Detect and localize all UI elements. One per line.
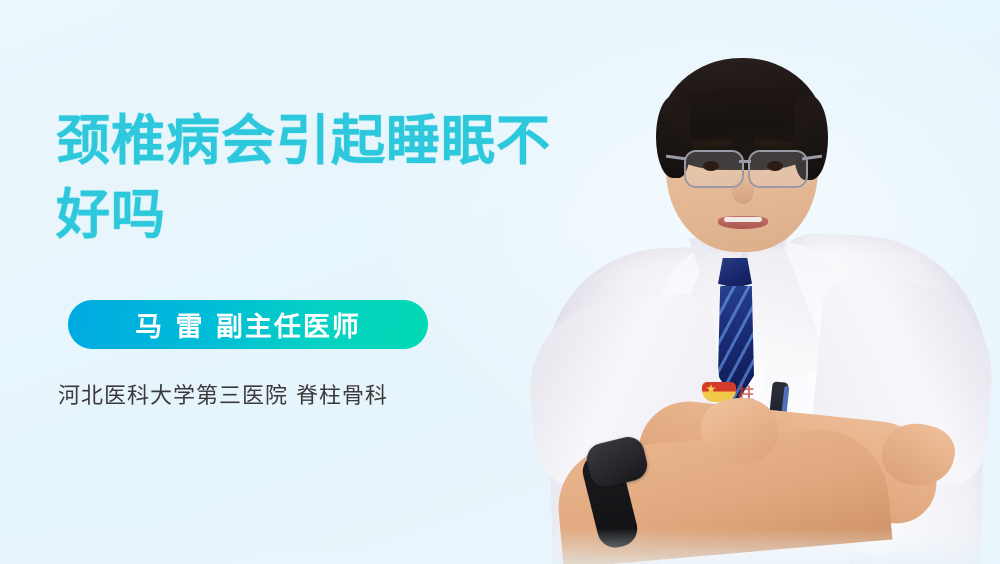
video-cover-card: 柱 共产党员 河北医科大学第三医院 颈椎病会引起睡眠不 好吗 (0, 0, 1000, 564)
page-title-line-2: 好吗 (56, 178, 656, 252)
doctor-name-badge: 马 雷 副主任医师 (68, 300, 428, 349)
eye-left (703, 161, 719, 171)
doctor-portrait-photo: 柱 共产党员 河北医科大学第三医院 (470, 0, 1000, 564)
eye-right (767, 161, 783, 171)
page-title-line-1: 颈椎病会引起睡眠不 (56, 104, 656, 178)
necktie-knot (718, 258, 752, 288)
nose (732, 178, 754, 204)
doctor-name-and-rank: 马 雷 副主任医师 (135, 305, 361, 344)
teeth (724, 217, 762, 222)
doctor-affiliation: 河北医科大学第三医院 脊柱骨科 (58, 378, 388, 410)
eyeglasses-bridge (739, 160, 751, 163)
hair-fringe (674, 88, 814, 128)
title-block: 颈椎病会引起睡眠不 好吗 (56, 104, 656, 252)
